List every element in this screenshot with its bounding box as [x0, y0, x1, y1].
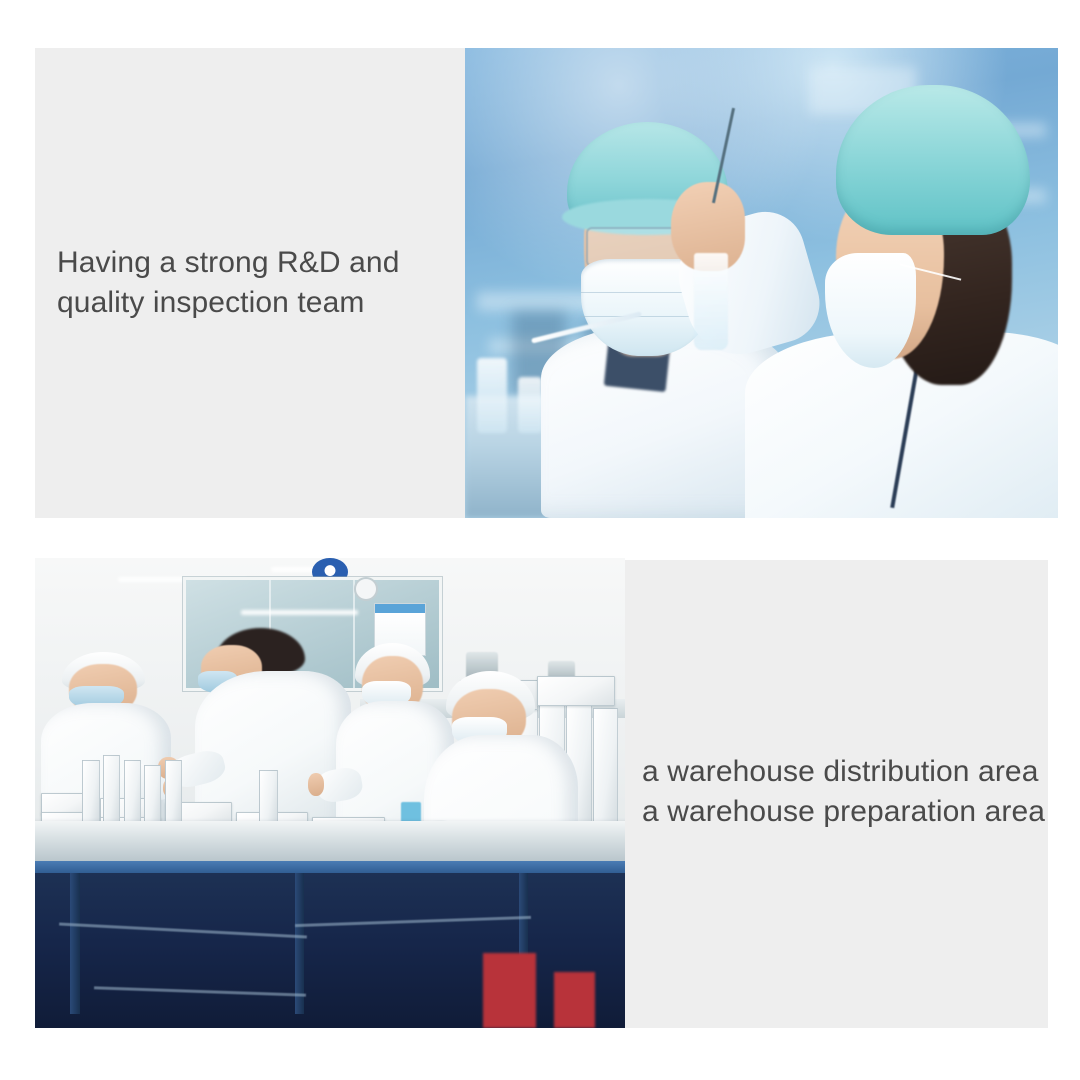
rnd-caption: Having a strong R&D and quality inspecti… [57, 243, 399, 322]
sample-vial [694, 253, 728, 350]
rnd-caption-line-2: quality inspection team [57, 283, 399, 323]
lab-quality-inspection-photo [465, 48, 1058, 518]
section-warehouse: a warehouse distribution area a warehous… [0, 540, 1080, 1080]
warehouse-caption-line-2: a warehouse preparation area [642, 792, 1045, 832]
section-rnd-quality: Having a strong R&D and quality inspecti… [0, 0, 1080, 540]
lab-technician-right [773, 76, 1058, 518]
warehouse-packing-photo [35, 558, 625, 1028]
warehouse-caption: a warehouse distribution area a warehous… [642, 752, 1045, 831]
wall-clock-icon [354, 577, 378, 601]
warehouse-caption-line-1: a warehouse distribution area [642, 752, 1045, 792]
rnd-caption-line-1: Having a strong R&D and [57, 243, 399, 283]
